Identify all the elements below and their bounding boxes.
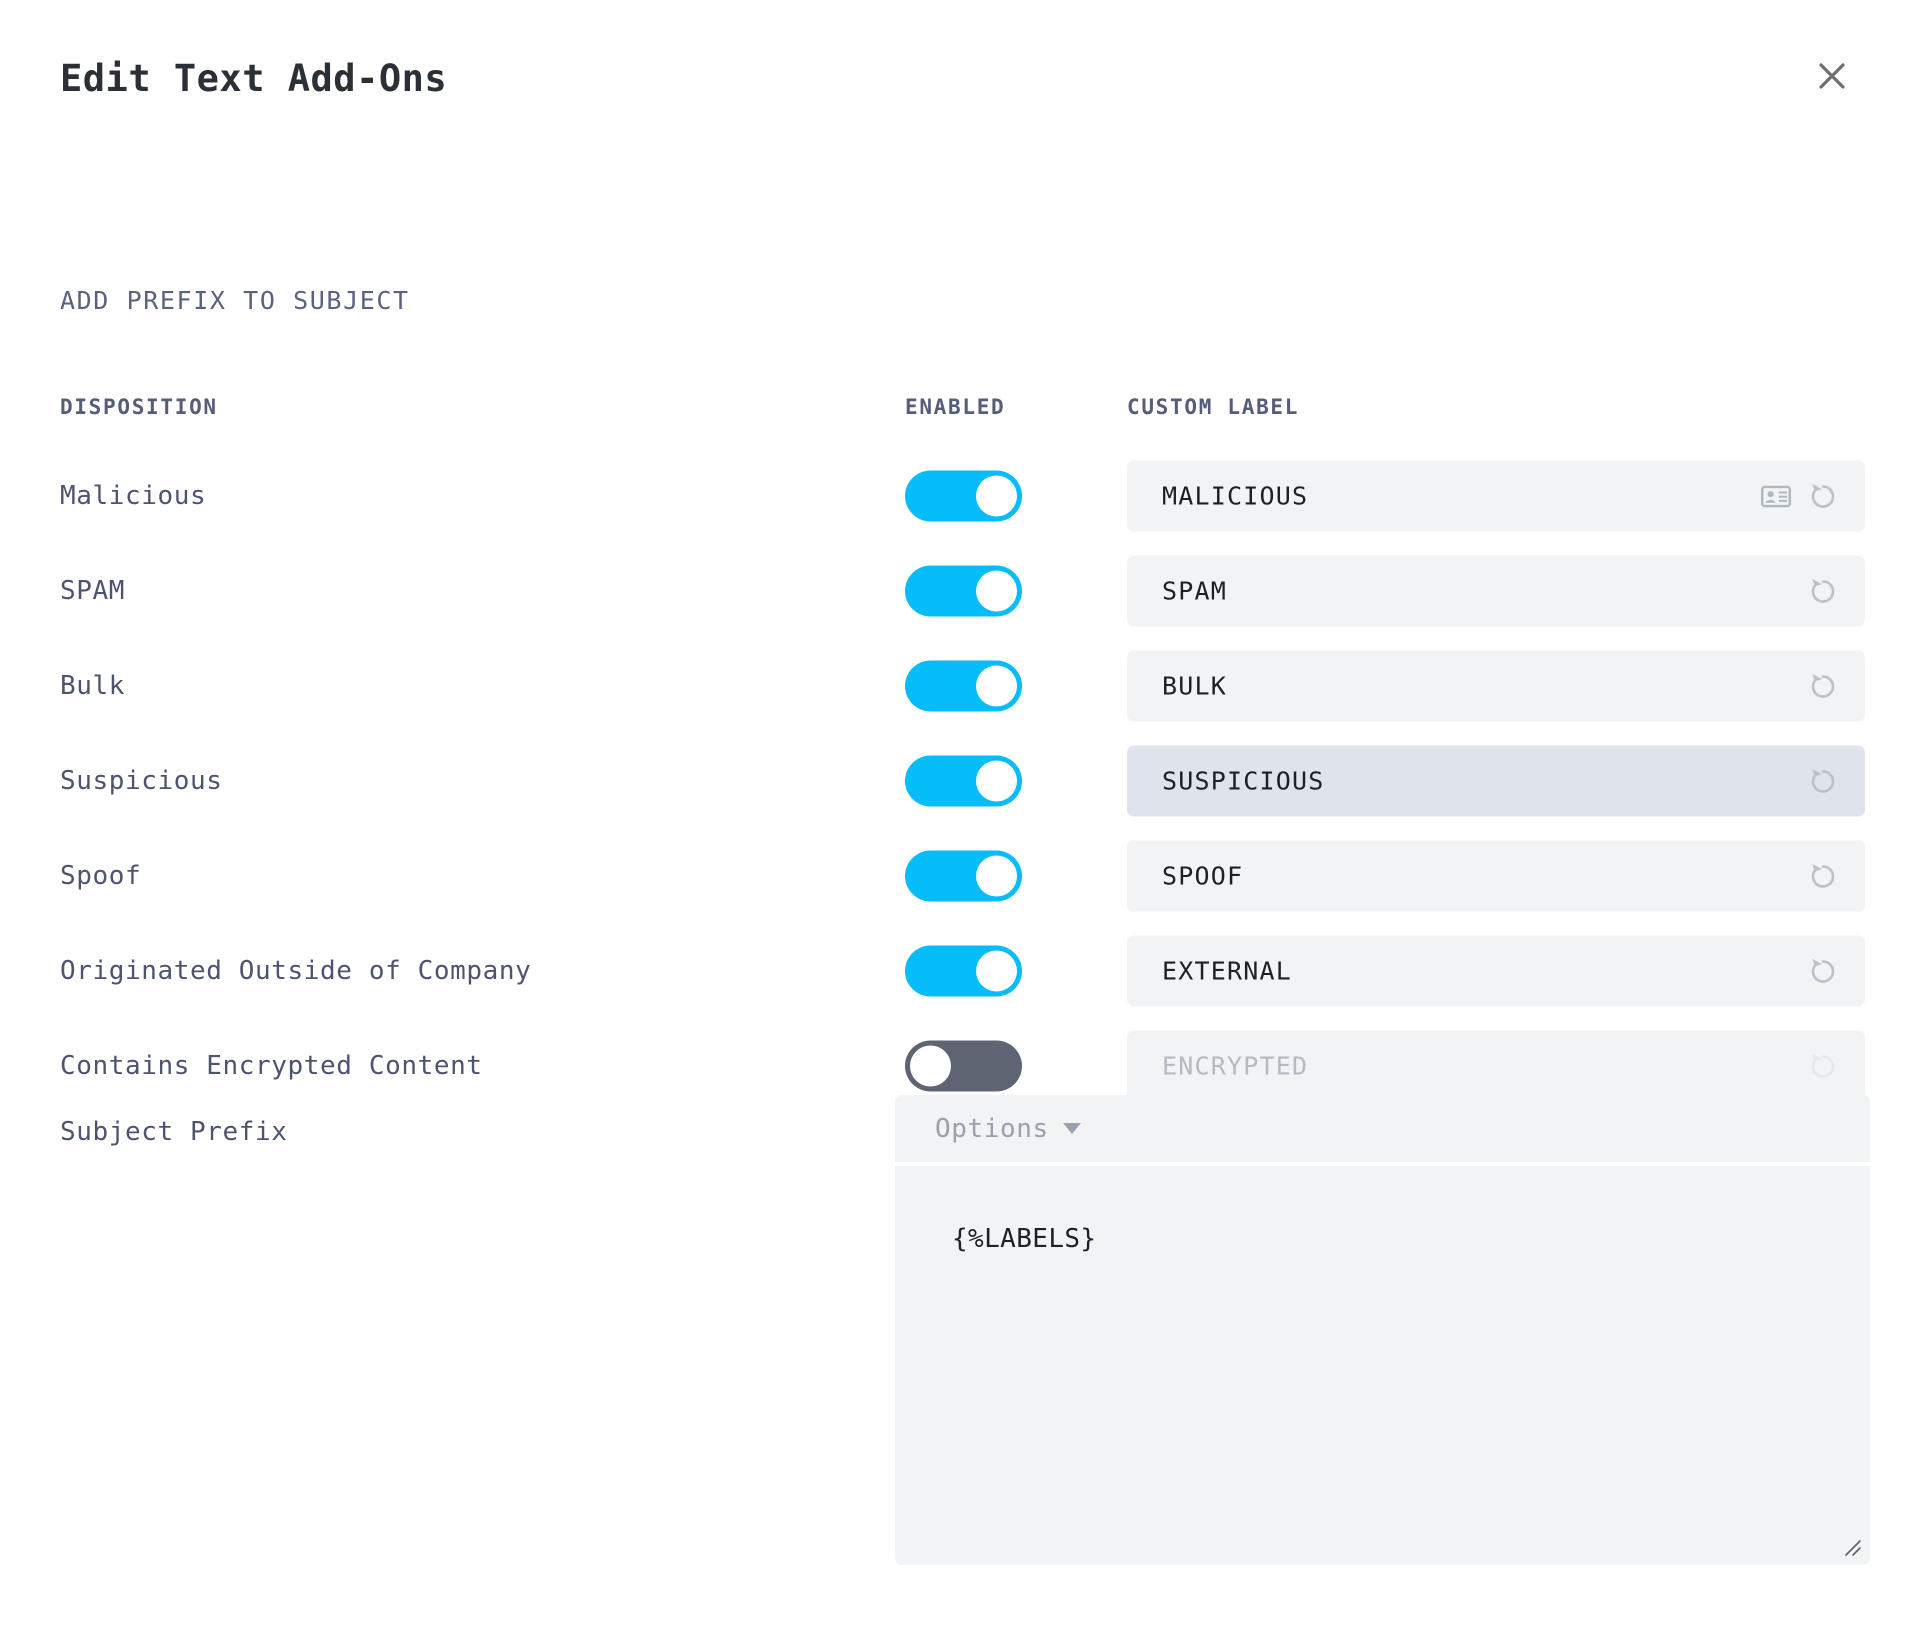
custom-label-input[interactable]: MALICIOUS (1127, 461, 1865, 532)
enabled-toggle[interactable] (905, 756, 1022, 807)
toggle-knob (976, 951, 1017, 992)
reset-icon[interactable] (1805, 953, 1841, 989)
table-row: SPAMSPAM (0, 545, 1908, 637)
custom-label-input[interactable]: BULK (1127, 651, 1865, 722)
custom-label-value: BULK (1162, 672, 1227, 701)
toggle-knob (976, 666, 1017, 707)
subject-prefix-label: Subject Prefix (60, 1117, 288, 1147)
table-row: SpoofSPOOF (0, 830, 1908, 922)
custom-label-input[interactable]: SPAM (1127, 556, 1865, 627)
custom-label-input[interactable]: ENCRYPTED (1127, 1031, 1865, 1102)
enabled-toggle[interactable] (905, 471, 1022, 522)
custom-label-value: SPOOF (1162, 862, 1243, 891)
field-icon-group (1805, 668, 1841, 704)
field-icon-group (1805, 763, 1841, 799)
field-icon-group (1805, 1048, 1841, 1084)
custom-label-value: EXTERNAL (1162, 957, 1292, 986)
toggle-knob (976, 761, 1017, 802)
options-dropdown[interactable]: Options (895, 1095, 1870, 1162)
enabled-toggle[interactable] (905, 946, 1022, 997)
table-row: SuspiciousSUSPICIOUS (0, 735, 1908, 827)
custom-label-input[interactable]: EXTERNAL (1127, 936, 1865, 1007)
row-label-disposition: Bulk (60, 671, 125, 701)
enabled-toggle[interactable] (905, 661, 1022, 712)
enabled-toggle[interactable] (905, 1041, 1022, 1092)
custom-label-value: ENCRYPTED (1162, 1052, 1308, 1081)
enabled-toggle[interactable] (905, 566, 1022, 617)
toggle-knob (976, 856, 1017, 897)
reset-icon[interactable] (1805, 478, 1841, 514)
row-label-disposition: Contains Encrypted Content (60, 1051, 483, 1081)
reset-icon[interactable] (1805, 858, 1841, 894)
row-label-disposition: SPAM (60, 576, 125, 606)
toggle-knob (976, 571, 1017, 612)
table-row: MaliciousMALICIOUS (0, 450, 1908, 542)
table-row: Originated Outside of CompanyEXTERNAL (0, 925, 1908, 1017)
table-row: BulkBULK (0, 640, 1908, 732)
custom-label-value: SUSPICIOUS (1162, 767, 1325, 796)
toggle-knob (976, 476, 1017, 517)
toggle-knob (910, 1046, 951, 1087)
row-label-disposition: Suspicious (60, 766, 223, 796)
field-icon-group (1805, 858, 1841, 894)
chevron-down-icon (1063, 1123, 1081, 1134)
field-icon-group (1761, 478, 1841, 514)
reset-icon[interactable] (1805, 763, 1841, 799)
options-dropdown-label: Options (935, 1114, 1049, 1144)
custom-label-input[interactable]: SPOOF (1127, 841, 1865, 912)
row-label-disposition: Malicious (60, 481, 206, 511)
field-icon-group (1805, 953, 1841, 989)
row-label-disposition: Originated Outside of Company (60, 956, 531, 986)
custom-label-input[interactable]: SUSPICIOUS (1127, 746, 1865, 817)
enabled-toggle[interactable] (905, 851, 1022, 902)
subject-prefix-textarea[interactable]: {%LABELS} (895, 1166, 1870, 1565)
reset-icon (1805, 1048, 1841, 1084)
custom-label-value: MALICIOUS (1162, 482, 1308, 511)
contact-card-icon[interactable] (1761, 484, 1791, 508)
row-label-disposition: Spoof (60, 861, 141, 891)
reset-icon[interactable] (1805, 573, 1841, 609)
resize-handle-icon[interactable] (1840, 1535, 1862, 1557)
reset-icon[interactable] (1805, 668, 1841, 704)
field-icon-group (1805, 573, 1841, 609)
subject-prefix-textarea-value: {%LABELS} (952, 1224, 1096, 1254)
custom-label-value: SPAM (1162, 577, 1227, 606)
